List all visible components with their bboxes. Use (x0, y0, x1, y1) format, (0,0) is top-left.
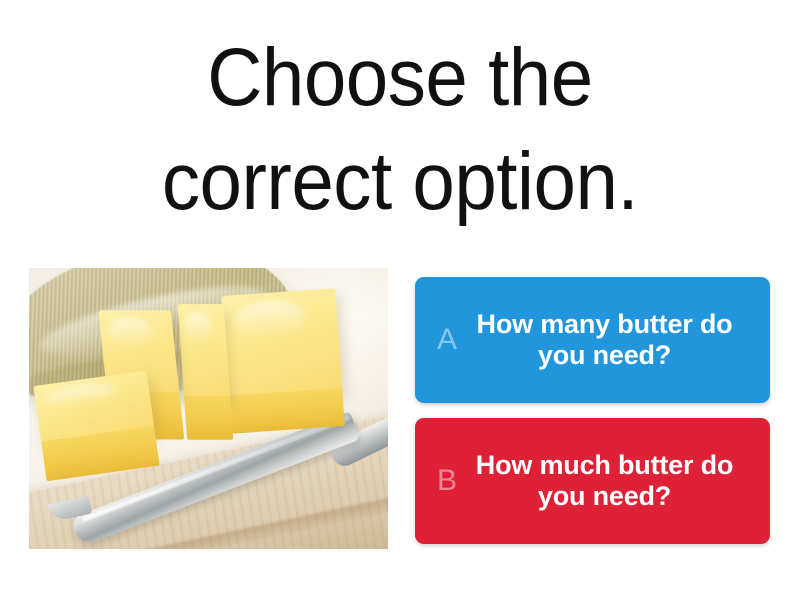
butter-photo (29, 268, 388, 549)
answer-option-a[interactable]: A How many butter do you need? (415, 277, 770, 403)
page-title: Choose the correct option. (65, 26, 735, 234)
answer-text-a: How many butter do you need? (473, 309, 770, 372)
quiz-stage: Choose the correct option. (0, 0, 800, 600)
butter-block-large (222, 288, 343, 400)
answer-letter-b: B (415, 466, 473, 496)
answer-option-b[interactable]: B How much butter do you need? (415, 418, 770, 544)
answer-text-b: How much butter do you need? (473, 450, 770, 513)
answer-letter-a: A (415, 325, 473, 355)
question-image (29, 268, 388, 549)
answer-options: A How many butter do you need? B How muc… (415, 277, 770, 543)
butter-slice-third (178, 304, 231, 400)
